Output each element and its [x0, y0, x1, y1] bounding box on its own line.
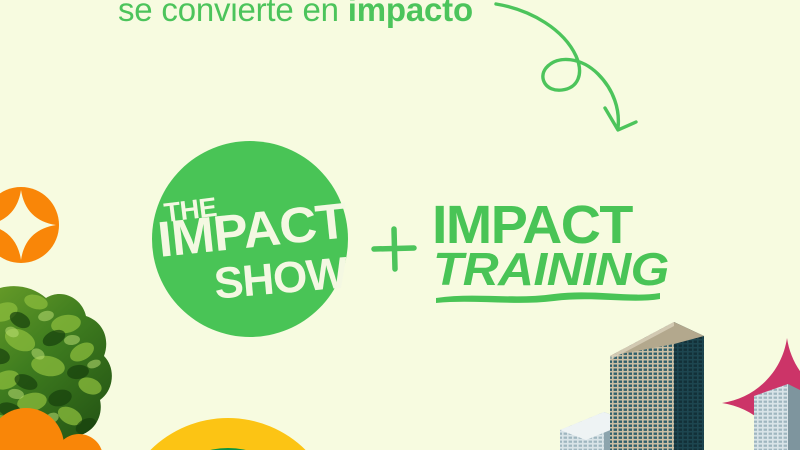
training-word-training: TRAINING	[433, 246, 669, 292]
plus-icon	[367, 222, 421, 276]
impact-show-logo: THE IMPACT SHOW	[152, 141, 348, 337]
city-buildings-photo	[548, 300, 800, 450]
logo-word-show: SHOW	[212, 248, 349, 309]
impact-training-logo: IMPACT TRAINING	[432, 198, 668, 308]
impact-show-lockup: THE IMPACT SHOW	[152, 141, 348, 337]
curved-arrow-icon	[492, 0, 657, 146]
headline-lead: se convierte en	[118, 0, 348, 28]
main-tower	[610, 322, 704, 450]
orange-circle-shape	[0, 187, 59, 263]
plus-horizontal-stroke	[374, 248, 414, 249]
promo-banner: se convierte en impacto THE IMPACT SHOW …	[0, 0, 800, 450]
headline-emphasis: impacto	[348, 0, 473, 28]
arrow-stroke	[496, 4, 618, 128]
page-title: se convierte en impacto	[118, 0, 473, 30]
arrow-head	[605, 108, 636, 130]
tertiary-building	[754, 384, 800, 450]
yellow-arc-shape	[118, 418, 338, 450]
orange-star-badge-icon	[0, 186, 60, 264]
